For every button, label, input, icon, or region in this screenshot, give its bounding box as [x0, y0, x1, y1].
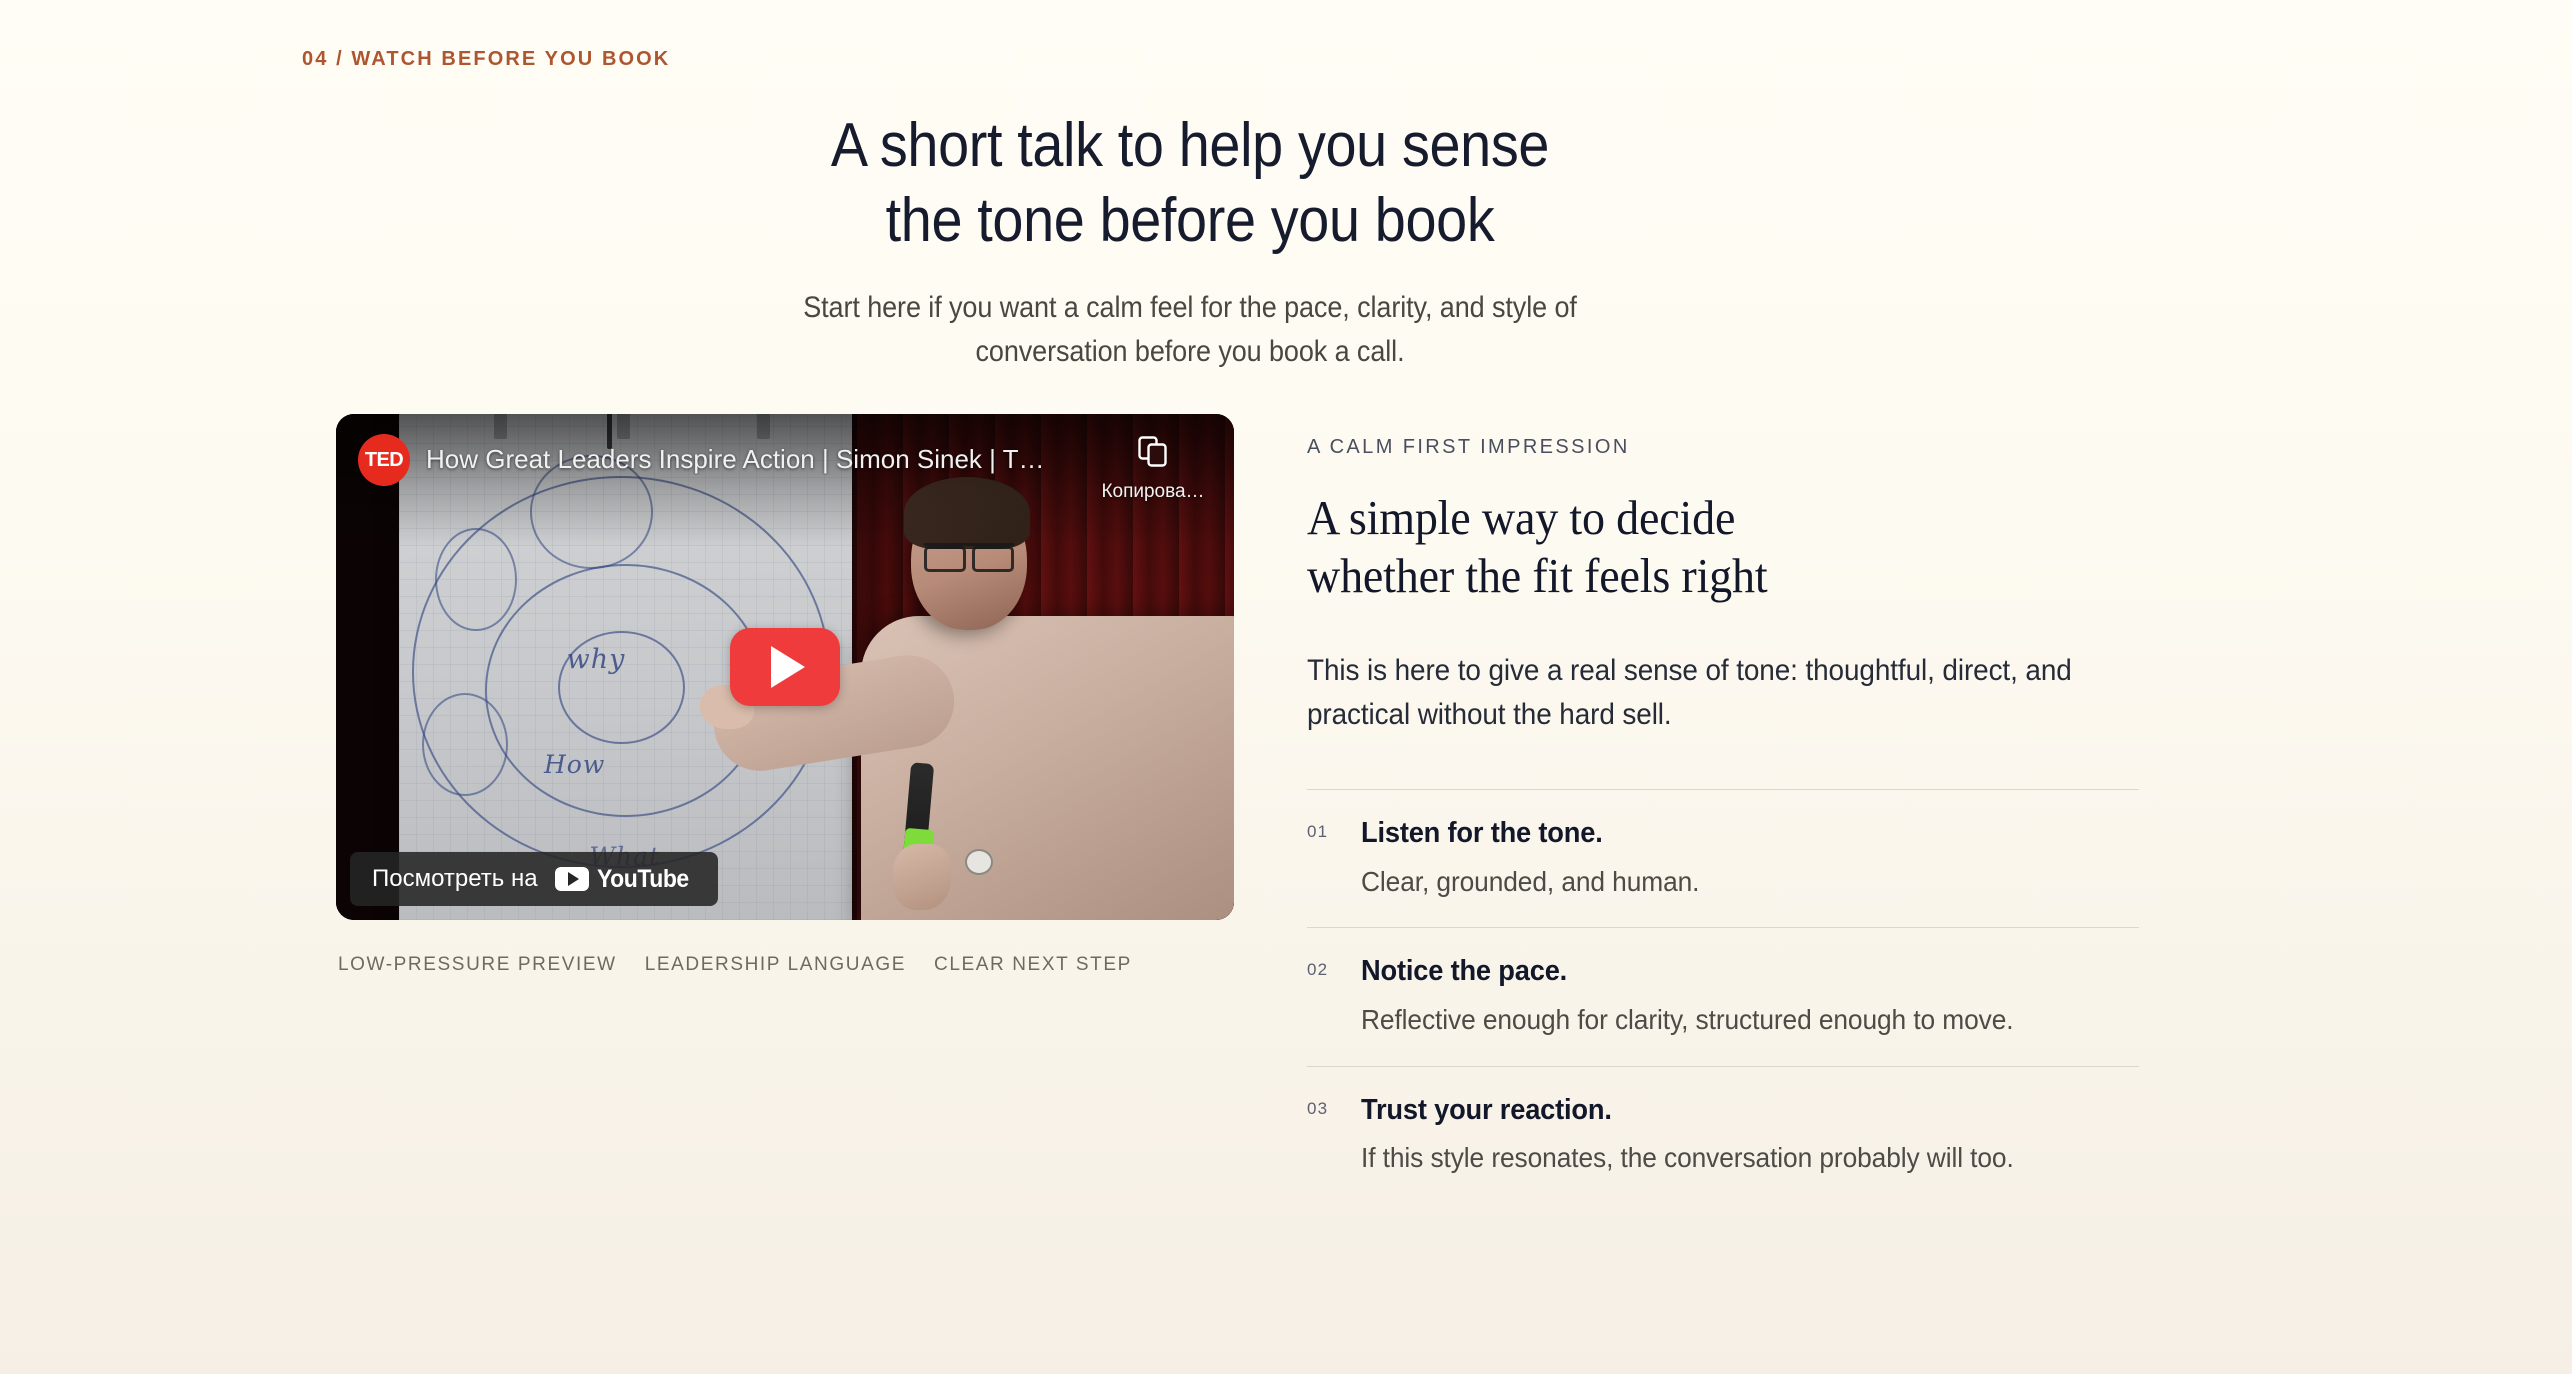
- info-panel: A CALM FIRST IMPRESSION A simple way to …: [1307, 436, 2139, 1204]
- section-eyebrow: 04 / WATCH BEFORE YOU BOOK: [302, 48, 670, 71]
- youtube-play-icon: [555, 867, 589, 891]
- page-title-line-1: A short talk to help you sense: [831, 111, 1549, 180]
- tag-row: LOW-PRESSURE PREVIEW LEADERSHIP LANGUAGE…: [336, 954, 1234, 976]
- tag-item: LOW-PRESSURE PREVIEW: [338, 954, 617, 976]
- copy-link-label: Копирова…: [1101, 481, 1204, 503]
- play-button[interactable]: [730, 628, 840, 706]
- point-number: 01: [1307, 815, 1339, 842]
- ted-logo-icon[interactable]: TED: [358, 434, 410, 486]
- copy-icon: [1138, 436, 1168, 473]
- video-player[interactable]: why How What TED: [336, 414, 1234, 920]
- watch-on-youtube-button[interactable]: Посмотреть на YouTube: [350, 852, 718, 906]
- points-list: 01 Listen for the tone. Clear, grounded,…: [1307, 789, 2139, 1204]
- point-description: If this style resonates, the conversatio…: [1361, 1138, 2092, 1178]
- video-column: why How What TED: [336, 414, 1234, 976]
- point-item: 03 Trust your reaction. If this style re…: [1307, 1066, 2139, 1204]
- youtube-logo: YouTube: [555, 865, 697, 894]
- watch-on-youtube-label: Посмотреть на: [372, 865, 538, 893]
- whiteboard-label-how: How: [544, 750, 605, 779]
- page-subtitle: Start here if you want a calm feel for t…: [119, 286, 2261, 374]
- panel-eyebrow: A CALM FIRST IMPRESSION: [1307, 436, 2139, 459]
- point-item: 01 Listen for the tone. Clear, grounded,…: [1307, 789, 2139, 927]
- play-icon: [771, 646, 805, 688]
- panel-title: A simple way to decide whether the fit f…: [1307, 489, 2089, 605]
- speaker-mic-hand: [893, 844, 951, 910]
- page-subtitle-line-2: conversation before you book a call.: [975, 335, 1404, 368]
- point-number: 02: [1307, 953, 1339, 980]
- whiteboard-sketch-blob: [422, 693, 508, 796]
- page-title: A short talk to help you sense the tone …: [119, 108, 2261, 258]
- point-description: Clear, grounded, and human.: [1361, 862, 2092, 902]
- point-content: Trust your reaction. If this style reson…: [1361, 1092, 2092, 1178]
- page-header: A short talk to help you sense the tone …: [0, 108, 2380, 374]
- tag-item: LEADERSHIP LANGUAGE: [645, 954, 906, 976]
- video-top-overlay: TED How Great Leaders Inspire Action | S…: [336, 414, 1234, 547]
- point-content: Notice the pace. Reflective enough for c…: [1361, 953, 2092, 1039]
- panel-body-text: This is here to give a real sense of ton…: [1307, 649, 2081, 737]
- point-content: Listen for the tone. Clear, grounded, an…: [1361, 815, 2092, 901]
- page-root: 04 / WATCH BEFORE YOU BOOK A short talk …: [0, 0, 2572, 1374]
- video-title[interactable]: How Great Leaders Inspire Action | Simon…: [426, 444, 1078, 475]
- youtube-wordmark: YouTube: [597, 865, 689, 894]
- panel-title-line-1: A simple way to decide: [1307, 490, 1735, 545]
- page-subtitle-line-1: Start here if you want a calm feel for t…: [803, 291, 1577, 324]
- point-title: Listen for the tone.: [1361, 815, 2092, 853]
- tag-item: CLEAR NEXT STEP: [934, 954, 1132, 976]
- point-title: Trust your reaction.: [1361, 1092, 2092, 1130]
- copy-link-button[interactable]: Копирова…: [1094, 436, 1212, 503]
- content-columns: why How What TED: [0, 414, 2572, 1314]
- point-description: Reflective enough for clarity, structure…: [1361, 1000, 2092, 1040]
- point-title: Notice the pace.: [1361, 953, 2092, 991]
- speaker-wristwatch: [965, 849, 993, 875]
- point-item: 02 Notice the pace. Reflective enough fo…: [1307, 927, 2139, 1065]
- whiteboard-label-why: why: [567, 644, 626, 675]
- page-title-line-2: the tone before you book: [886, 186, 1495, 255]
- panel-title-line-2: whether the fit feels right: [1307, 548, 1767, 603]
- point-number: 03: [1307, 1092, 1339, 1119]
